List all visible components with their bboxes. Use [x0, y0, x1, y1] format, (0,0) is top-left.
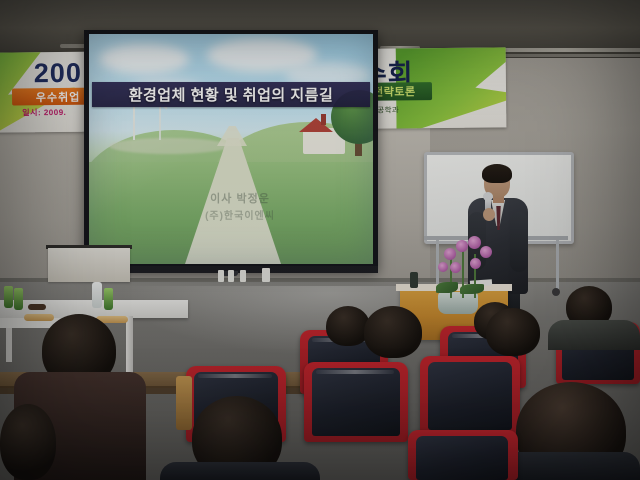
speaker-hair [482, 164, 512, 183]
green-bottle [104, 288, 113, 310]
screen-vignette [89, 34, 373, 264]
seat-highlight [198, 374, 272, 378]
cup [218, 270, 224, 282]
orchid-bloom [468, 236, 481, 249]
podium-bottle [410, 272, 418, 288]
seat-highlight [316, 370, 394, 374]
green-bottle [4, 286, 13, 308]
banner-year-text: 200 [34, 58, 82, 90]
snack-plate [28, 304, 46, 310]
green-bottle [14, 288, 23, 310]
cup [262, 268, 270, 282]
seat-back-pad [416, 436, 508, 480]
snack-plate [24, 314, 54, 321]
audience-head [0, 404, 56, 480]
slide-title-text: 환경업체 현황 및 취업의 지름길 [92, 84, 370, 105]
microphone-head-icon [483, 192, 493, 201]
orchid-bloom [438, 262, 448, 272]
orchid-bloom [444, 248, 456, 260]
audience-head [326, 306, 370, 346]
cup [240, 270, 246, 282]
orchid-bloom [470, 258, 481, 269]
audience-head [486, 308, 540, 356]
lecture-hall-photo: 200 수회 우수취업 강전략토론 일시: 2009. 학교 환경공학과 환경 [0, 0, 640, 480]
cup [228, 270, 234, 282]
speaker-hand [483, 208, 495, 221]
audience-shoulders [160, 462, 320, 480]
orchid-leaf [436, 282, 458, 293]
armrest [176, 376, 192, 430]
orchid-leaf [460, 284, 484, 294]
audience-head [364, 306, 422, 358]
speaker-arm-right [510, 212, 528, 272]
slide-company-name: (주)한국이엔씨 [150, 207, 330, 222]
whiteboard-wheel [552, 288, 560, 296]
audience-shoulders [548, 320, 640, 350]
projection-screen [89, 34, 373, 264]
banner-date-text: 일시: 2009. [22, 107, 66, 118]
orchid-bloom [450, 262, 461, 273]
flower-pot [438, 292, 478, 314]
low-cabinet [48, 248, 130, 282]
seat-back-pad [428, 362, 512, 430]
seat-back-pad [312, 368, 400, 436]
white-bottle [92, 282, 102, 308]
orchid-bloom [480, 246, 492, 258]
slide-presenter-name: 이사 박정운 [150, 190, 330, 206]
orchid-bloom [456, 240, 468, 252]
whiteboard-leg [556, 240, 559, 290]
